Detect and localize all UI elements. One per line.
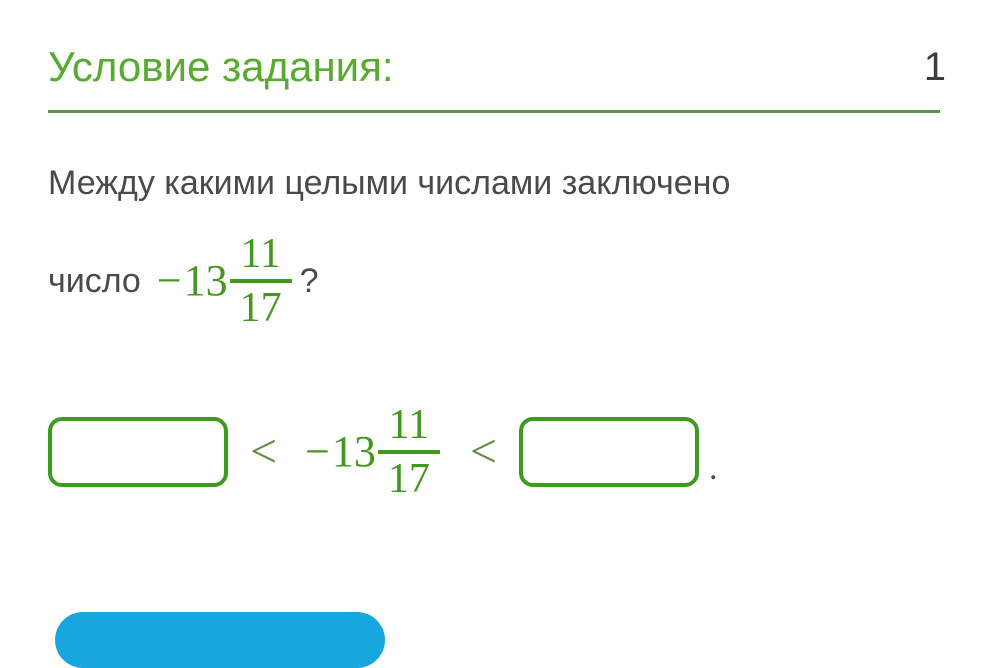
answer-row: < − 13 11 17 < . bbox=[48, 382, 948, 522]
answer-numerator: 11 bbox=[385, 401, 433, 449]
answer-denominator: 17 bbox=[384, 455, 434, 503]
question-numerator: 11 bbox=[236, 230, 284, 278]
question-minus-sign: − bbox=[157, 259, 182, 303]
question-line-1: Между какими целыми числами заключено bbox=[48, 160, 948, 206]
question-body: Между какими целыми числами заключено чи… bbox=[48, 160, 948, 340]
answer-integer-part: 13 bbox=[332, 430, 376, 474]
lower-bound-input[interactable] bbox=[48, 417, 228, 487]
trailing-period: . bbox=[709, 450, 718, 488]
question-denominator: 17 bbox=[236, 284, 286, 332]
question-fraction: 11 17 bbox=[230, 230, 292, 332]
question-line-2: число − 13 11 17 ? bbox=[48, 222, 948, 340]
header-divider bbox=[48, 110, 940, 113]
less-than-sign-left: < bbox=[250, 428, 277, 476]
question-mixed-number: − 13 11 17 bbox=[157, 230, 294, 332]
exercise-header: Условие задания: 1 bbox=[48, 22, 940, 90]
less-than-sign-right: < bbox=[470, 428, 497, 476]
question-fraction-bar bbox=[230, 279, 292, 283]
question-mark: ? bbox=[300, 258, 319, 304]
submit-button[interactable] bbox=[55, 612, 385, 668]
page-title: Условие задания: bbox=[48, 44, 394, 90]
answer-fraction: 11 17 bbox=[378, 401, 440, 503]
task-number: 1 bbox=[924, 44, 946, 90]
question-line-2-word: число bbox=[48, 258, 141, 304]
upper-bound-input[interactable] bbox=[519, 417, 699, 487]
answer-minus-sign: − bbox=[305, 430, 330, 474]
answer-fraction-bar bbox=[378, 450, 440, 454]
question-integer-part: 13 bbox=[184, 259, 228, 303]
answer-mixed-number: − 13 11 17 bbox=[305, 401, 442, 503]
